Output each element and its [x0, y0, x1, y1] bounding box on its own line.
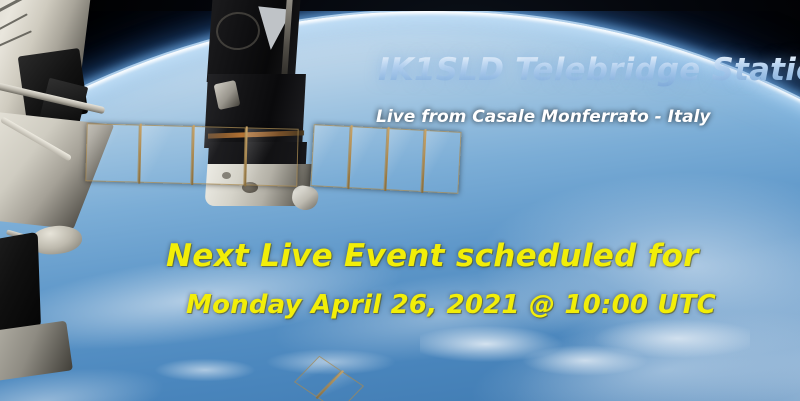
event-announcement-line1: Next Live Event scheduled for	[166, 238, 699, 274]
page-subtitle: Live from Casale Monferrato - Italy	[376, 107, 711, 127]
page-title: IK1SLD Telebridge Station	[378, 52, 800, 88]
solar-panel-segment	[244, 127, 299, 186]
solar-panel-segment	[310, 124, 350, 188]
solar-panel-segment	[421, 130, 461, 194]
solar-panel-segment	[347, 126, 387, 190]
solar-array-icon	[310, 124, 461, 194]
solar-panel-segment	[384, 128, 424, 192]
iss-module-icon	[0, 0, 130, 220]
solar-panel-segment	[138, 125, 193, 184]
solar-panel-segment	[191, 126, 246, 185]
solar-panel-segment	[85, 123, 140, 182]
telebridge-banner: ПРОГРЕСС IK1SLD Telebridge	[0, 0, 800, 401]
event-announcement-line2: Monday April 26, 2021 @ 10:00 UTC	[186, 290, 716, 320]
solar-array-icon	[85, 123, 298, 187]
